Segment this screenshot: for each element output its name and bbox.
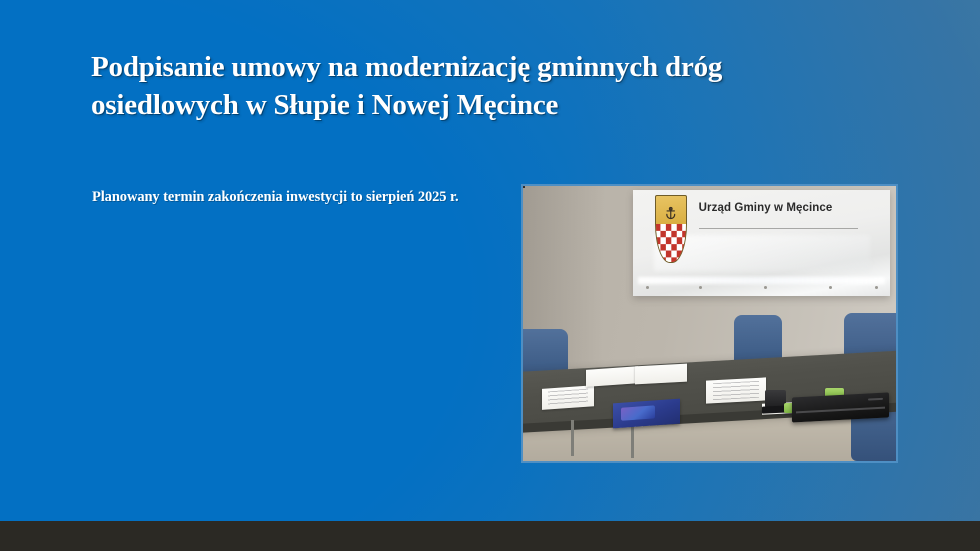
slide-body-text: Planowany termin zakończenia inwestycji … (92, 186, 462, 208)
paper-center (635, 363, 687, 384)
crest-checkerboard (655, 224, 686, 263)
laptop-case-trim (795, 406, 884, 413)
paper-right-text (713, 381, 758, 400)
photo-content: Urząd Gminy w Męcince (523, 186, 896, 461)
blue-folder (613, 398, 680, 427)
sign-light-reflection (638, 277, 885, 284)
paper-center-left (586, 366, 638, 386)
sign-mount-screws (641, 286, 883, 292)
sign-label: Urząd Gminy w Męcince (699, 202, 833, 214)
table-leg-left (571, 420, 574, 456)
black-laptop-case (792, 392, 889, 422)
page-title: Podpisanie umowy na modernizację gminnyc… (91, 48, 791, 125)
signing-ceremony-photo: Urząd Gminy w Męcince (521, 184, 898, 463)
paper-left (542, 385, 594, 409)
paper-left-text (548, 388, 588, 406)
presentation-slide: Podpisanie umowy na modernizację gminnyc… (0, 0, 980, 551)
folder-cover-graphic (621, 405, 655, 420)
coat-of-arms-icon (655, 195, 687, 263)
paper-right (706, 377, 766, 404)
sign-underline (699, 228, 859, 229)
office-sign-board: Urząd Gminy w Męcince (633, 190, 890, 296)
person-center-glasses-right (523, 186, 525, 188)
laptop-case-handle (867, 398, 883, 401)
slide-bottom-bar (0, 521, 980, 551)
table-leg-right (631, 425, 634, 458)
crest-anchor-icon (664, 202, 678, 224)
